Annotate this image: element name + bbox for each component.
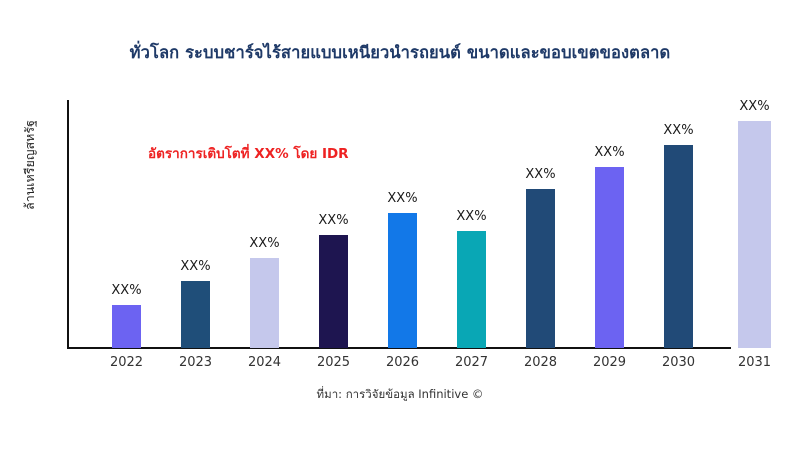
bar-2028: [526, 189, 555, 348]
x-tick-2025: 2025: [304, 355, 364, 370]
bar-value-label-2026: XX%: [373, 191, 433, 206]
bar-value-label-2027: XX%: [442, 209, 502, 224]
bar-value-label-2023: XX%: [166, 259, 226, 274]
bar-2030: [664, 145, 693, 348]
bar-2024: [250, 258, 279, 348]
chart-figure: ทั่วโลก ระบบชาร์จไร้สายแบบเหนียวนำรถยนต์…: [0, 0, 800, 450]
growth-rate-annotation: อัตราการเติบโตที่ XX% โดย IDR: [148, 142, 349, 164]
bar-value-label-2022: XX%: [97, 283, 157, 298]
bar-value-label-2031: XX%: [725, 99, 785, 114]
bar-value-label-2024: XX%: [235, 236, 295, 251]
bar-2022: [112, 305, 141, 348]
source-note: ที่มา: การวิจัยข้อมูล Infinitive ©: [0, 386, 800, 404]
bar-2029: [595, 167, 624, 348]
bar-value-label-2028: XX%: [511, 167, 571, 182]
bar-2025: [319, 235, 348, 348]
x-tick-2024: 2024: [235, 355, 295, 370]
x-tick-2030: 2030: [649, 355, 709, 370]
x-tick-2028: 2028: [511, 355, 571, 370]
bar-2027: [457, 231, 486, 348]
x-tick-2027: 2027: [442, 355, 502, 370]
bar-2026: [388, 213, 417, 348]
bar-2023: [181, 281, 210, 348]
x-tick-2026: 2026: [373, 355, 433, 370]
x-tick-2029: 2029: [580, 355, 640, 370]
y-axis-label: ล้านเหรียญสหรัฐ: [20, 105, 40, 225]
bar-value-label-2029: XX%: [580, 145, 640, 160]
bar-2031: [738, 121, 771, 348]
bar-value-label-2025: XX%: [304, 213, 364, 228]
x-tick-2022: 2022: [97, 355, 157, 370]
bar-value-label-2030: XX%: [649, 123, 709, 138]
x-tick-2023: 2023: [166, 355, 226, 370]
y-axis-line: [67, 100, 69, 348]
chart-title: ทั่วโลก ระบบชาร์จไร้สายแบบเหนียวนำรถยนต์…: [0, 40, 800, 66]
x-tick-2031: 2031: [725, 355, 785, 370]
